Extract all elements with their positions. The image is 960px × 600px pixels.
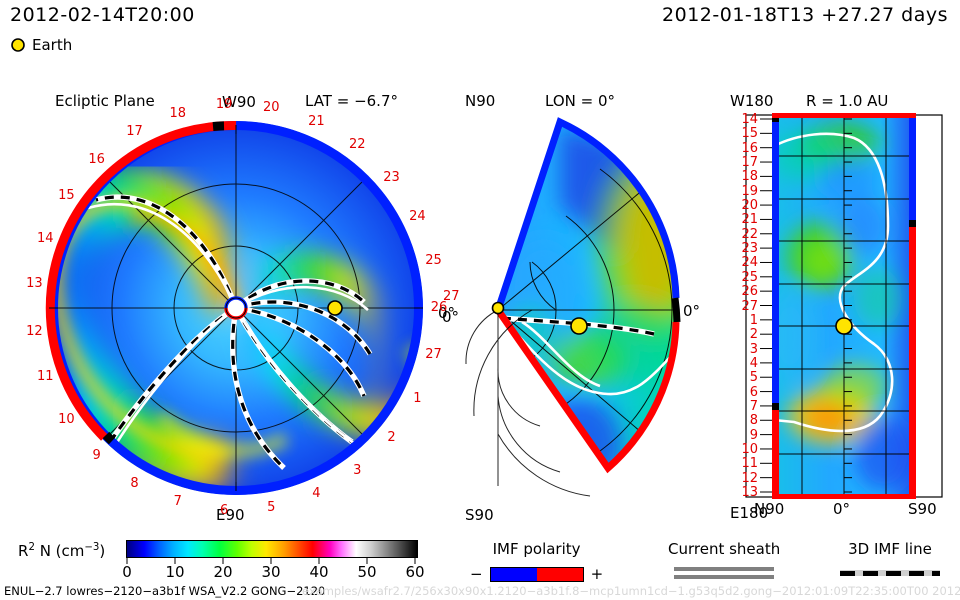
ecliptic-carrington-label: 4 — [307, 486, 325, 501]
ecliptic-carrington-label: 5 — [262, 500, 280, 515]
synoptic-y-tick-label: 3 — [728, 342, 758, 357]
synoptic-y-tick-label: 4 — [728, 356, 758, 371]
ecliptic-carrington-label: 13 — [25, 276, 43, 291]
synoptic-topleft-label: W180 — [730, 92, 773, 110]
ecliptic-lat-label: LAT = −6.7° — [305, 92, 398, 110]
synoptic-y-tick-label: 13 — [728, 485, 758, 500]
synoptic-y-tick-label: 10 — [728, 442, 758, 457]
synoptic-y-tick-label: 27 — [728, 299, 758, 314]
synoptic-y-tick-label: 15 — [728, 126, 758, 141]
ecliptic-carrington-label: 11 — [36, 369, 54, 384]
synoptic-plot — [728, 86, 960, 526]
synoptic-polarity-left-positive — [772, 115, 779, 409]
ecliptic-carrington-label: 17 — [126, 124, 144, 139]
colorbar-tick-label: 50 — [352, 563, 382, 581]
legend-current-sheath: Current sheath — [668, 540, 780, 579]
ecliptic-plot — [0, 86, 460, 526]
meridional-left-label: 0° — [442, 308, 459, 326]
synoptic-y-tick-label: 5 — [728, 370, 758, 385]
earth-marker-ecliptic — [328, 301, 342, 315]
current-sheath-line-2 — [674, 575, 774, 579]
synoptic-y-tick-label: 6 — [728, 385, 758, 400]
synoptic-y-tick-label: 14 — [728, 112, 758, 127]
synoptic-y-tick-label: 1 — [728, 313, 758, 328]
synoptic-y-tick-label: 7 — [728, 399, 758, 414]
cb-close: ) — [99, 542, 105, 560]
colorbar-tick-label: 20 — [208, 563, 238, 581]
ecliptic-carrington-label: 18 — [169, 106, 187, 121]
imf-line-title: 3D IMF line — [840, 540, 940, 558]
synoptic-y-tick-label: 2 — [728, 327, 758, 342]
synoptic-xtick-s90: S90 — [908, 500, 937, 518]
synoptic-y-tick-label: 20 — [728, 198, 758, 213]
colorbar-tick-label: 30 — [256, 563, 286, 581]
ecliptic-carrington-label: 19 — [215, 97, 233, 112]
meridional-bottom-label: S90 — [465, 506, 494, 524]
synoptic-y-tick-label: 16 — [728, 141, 758, 156]
synoptic-y-tick-label: 26 — [728, 284, 758, 299]
ecliptic-carrington-label: 1 — [408, 391, 426, 406]
ecliptic-carrington-label: 14 — [36, 231, 54, 246]
ecliptic-carrington-label: 7 — [169, 494, 187, 509]
ecliptic-carrington-label: 21 — [307, 114, 325, 129]
ecliptic-carrington-label: 15 — [57, 188, 75, 203]
colorbar-tick-label: 60 — [400, 563, 430, 581]
ecliptic-carrington-label: 23 — [383, 170, 401, 185]
legend-3d-imf-line: 3D IMF line — [840, 540, 940, 579]
meridional-left-carrington: 27 — [443, 289, 460, 304]
cb-unit-exp: −3 — [84, 542, 99, 553]
earth-marker-synoptic — [836, 318, 852, 334]
earth-icon — [10, 37, 26, 53]
synoptic-y-tick-label: 9 — [728, 428, 758, 443]
timestamp-right: 2012-01-18T13 +27.27 days — [662, 4, 948, 26]
ecliptic-carrington-label: 16 — [88, 152, 106, 167]
meridional-top-label: N90 — [465, 92, 495, 110]
colorbar-tick-label: 40 — [304, 563, 334, 581]
imf-minus-sign: − — [470, 565, 483, 583]
cb-r: R — [18, 542, 28, 560]
ecliptic-title: Ecliptic Plane — [55, 92, 155, 110]
synoptic-y-tick-label: 23 — [728, 241, 758, 256]
ecliptic-carrington-label: 22 — [348, 137, 366, 152]
ecliptic-carrington-label: 2 — [383, 430, 401, 445]
synoptic-y-tick-label: 12 — [728, 471, 758, 486]
current-sheath-title: Current sheath — [668, 540, 780, 558]
panel-synoptic: W180 R = 1.0 AU E180 — [728, 86, 960, 526]
legend-imf-polarity: IMF polarity − + — [470, 540, 603, 583]
synoptic-xtick-n90: N90 — [754, 500, 784, 518]
ecliptic-carrington-label: 3 — [348, 463, 366, 478]
earth-legend-label: Earth — [32, 36, 72, 54]
colorbar-bar — [126, 540, 418, 558]
synoptic-y-tick-label: 18 — [728, 169, 758, 184]
cb-rest: N (cm — [35, 542, 84, 560]
meridional-right-label: 0° — [683, 302, 700, 320]
imf-polarity-bar — [490, 567, 584, 582]
meridional-lon-label: LON = 0° — [545, 92, 615, 110]
panel-meridional: N90 LON = 0° S90 0° 0° 27 — [440, 86, 730, 526]
earth-marker-meridional — [571, 318, 587, 334]
footer-watermark: examples/wsafr2.7/256x30x90x1.2120−a3b1f… — [302, 584, 960, 598]
ecliptic-carrington-label: 8 — [126, 476, 144, 491]
footer-run-id: ENUL−2.7 lowres−2120−a3b1f WSA_V2.2 GONG… — [4, 584, 325, 598]
ecliptic-carrington-label: 9 — [88, 448, 106, 463]
synoptic-y-tick-label: 25 — [728, 270, 758, 285]
imf-polarity-title: IMF polarity — [470, 540, 603, 558]
ecliptic-carrington-label: 10 — [57, 412, 75, 427]
synoptic-y-tick-label: 21 — [728, 212, 758, 227]
colorbar-tick-label: 0 — [112, 563, 142, 581]
imf-line-dash — [840, 571, 940, 576]
synoptic-y-tick-label: 8 — [728, 413, 758, 428]
synoptic-y-tick-label: 17 — [728, 155, 758, 170]
synoptic-polarity-right-negative — [909, 227, 916, 497]
synoptic-polarity-left-negative — [772, 409, 779, 497]
synoptic-y-tick-label: 22 — [728, 227, 758, 242]
earth-legend: Earth — [10, 36, 72, 54]
synoptic-title: R = 1.0 AU — [806, 92, 888, 110]
sun-marker-meridional — [493, 303, 504, 314]
timestamp-left: 2012-02-14T20:00 — [10, 4, 195, 26]
colorbar-tick-label: 10 — [160, 563, 190, 581]
ecliptic-carrington-label: 6 — [215, 503, 233, 518]
imf-plus-sign: + — [591, 565, 604, 583]
current-sheath-line-1 — [674, 567, 774, 571]
ecliptic-carrington-label: 24 — [408, 209, 426, 224]
ecliptic-carrington-label: 20 — [262, 100, 280, 115]
colorbar-label: R2 N (cm−3) — [18, 542, 105, 560]
panel-ecliptic: Ecliptic Plane LAT = −6.7° W90 E90 0° — [0, 86, 460, 526]
colorbar-tick-labels: 0102030405060 — [126, 563, 426, 583]
ecliptic-carrington-label: 12 — [25, 324, 43, 339]
sun-marker — [226, 298, 246, 318]
synoptic-xtick-zero: 0° — [833, 500, 850, 518]
synoptic-y-tick-label: 11 — [728, 456, 758, 471]
synoptic-y-tick-label: 24 — [728, 255, 758, 270]
synoptic-y-tick-label: 19 — [728, 184, 758, 199]
